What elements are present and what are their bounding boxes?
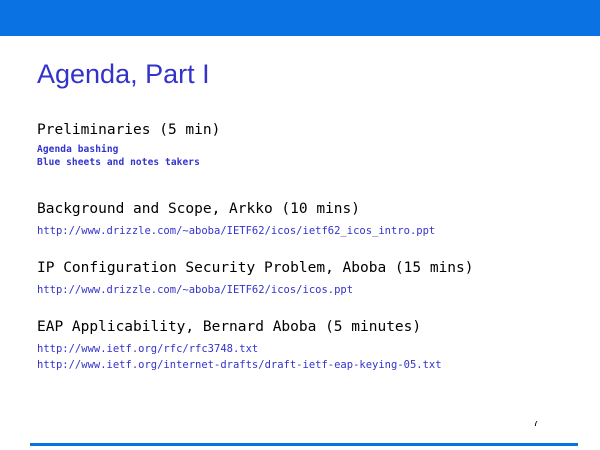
page-title: Agenda, Part I: [37, 58, 210, 90]
agenda-sub-list: Agenda bashing Blue sheets and notes tak…: [37, 143, 577, 169]
footer-accent-rule: [30, 443, 578, 446]
agenda-item-heading: Background and Scope, Arkko (10 mins): [37, 199, 577, 220]
agenda-block-eap-applicability: EAP Applicability, Bernard Aboba (5 minu…: [37, 317, 577, 373]
page-number-value: 7: [521, 421, 539, 429]
agenda-block-preliminaries: Preliminaries (5 min) Agenda bashing Blu…: [37, 120, 577, 169]
agenda-link[interactable]: http://www.drizzle.com/~aboba/IETF62/ico…: [37, 282, 577, 298]
agenda-sub-item: Blue sheets and notes takers: [37, 156, 577, 169]
page-number: 7: [521, 421, 539, 433]
agenda-link-list: http://www.drizzle.com/~aboba/IETF62/ico…: [37, 223, 577, 239]
agenda-item-heading: EAP Applicability, Bernard Aboba (5 minu…: [37, 317, 577, 338]
agenda-sub-item: Agenda bashing: [37, 143, 577, 156]
agenda-link[interactable]: http://www.ietf.org/rfc/rfc3748.txt: [37, 341, 577, 357]
agenda-link[interactable]: http://www.drizzle.com/~aboba/IETF62/ico…: [37, 223, 577, 239]
presentation-slide: Agenda, Part I Preliminaries (5 min) Age…: [0, 0, 600, 450]
top-accent-band: [0, 0, 600, 36]
agenda-link-list: http://www.ietf.org/rfc/rfc3748.txt http…: [37, 341, 577, 373]
agenda-link-list: http://www.drizzle.com/~aboba/IETF62/ico…: [37, 282, 577, 298]
agenda-block-ip-configuration: IP Configuration Security Problem, Aboba…: [37, 258, 577, 298]
agenda-item-heading: Preliminaries (5 min): [37, 120, 577, 141]
slide-body: Preliminaries (5 min) Agenda bashing Blu…: [37, 120, 577, 373]
agenda-block-background: Background and Scope, Arkko (10 mins) ht…: [37, 199, 577, 239]
agenda-link[interactable]: http://www.ietf.org/internet-drafts/draf…: [37, 357, 577, 373]
agenda-item-heading: IP Configuration Security Problem, Aboba…: [37, 258, 577, 279]
